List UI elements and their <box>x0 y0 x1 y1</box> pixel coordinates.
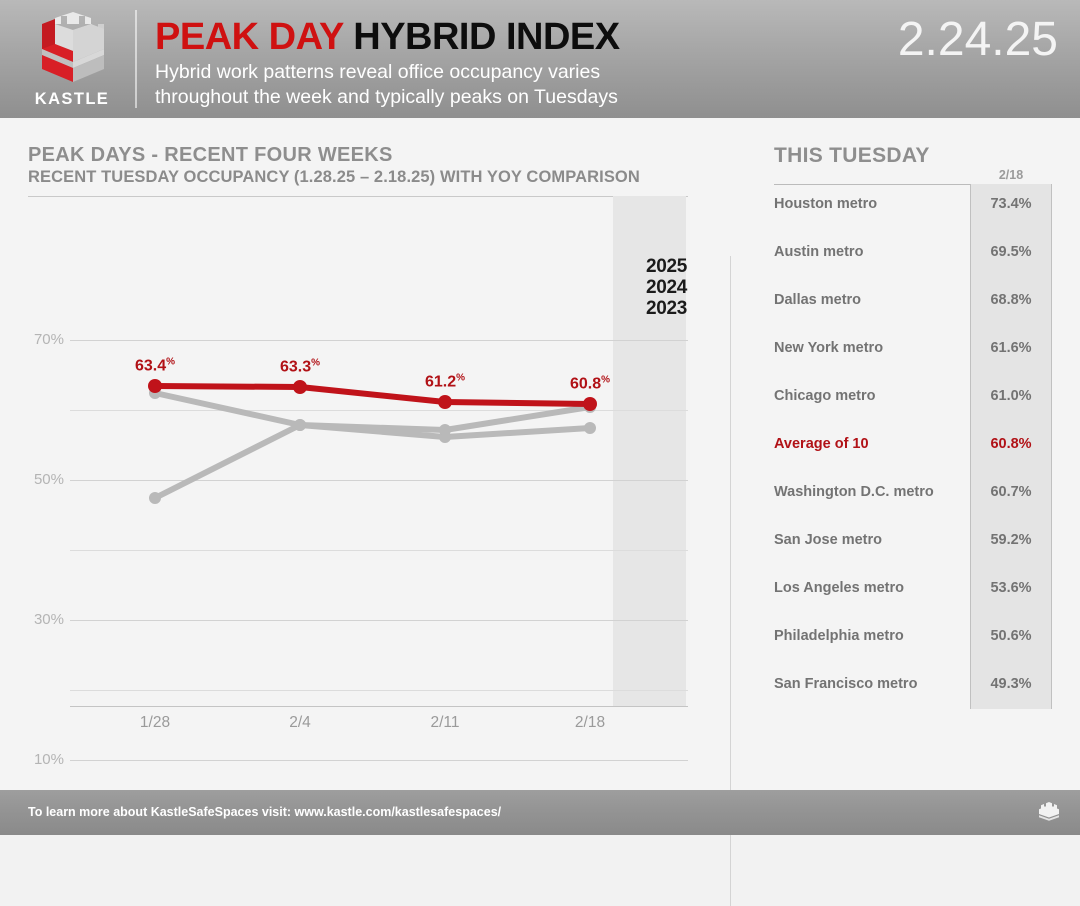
point-label-2025-1: 63.4% <box>135 357 175 376</box>
table-row-name: Dallas metro <box>774 292 861 308</box>
line-chart-plot-area: 70% 50% 30% 10% <box>28 196 688 731</box>
page-title: PEAK DAY HYBRID INDEX <box>155 14 795 60</box>
header-subtitle-line-2: throughout the week and typically peaks … <box>155 85 795 110</box>
page-header: KASTLE PEAK DAY HYBRID INDEX Hybrid work… <box>0 0 1080 118</box>
data-point-2024-2 <box>294 419 306 431</box>
table-row-value: 49.3% <box>970 676 1052 692</box>
legend-item-2023: 2023 <box>646 298 687 319</box>
table-row-value: 60.8% <box>970 436 1052 452</box>
table-row-name: Los Angeles metro <box>774 580 904 596</box>
table-row-average[interactable]: Average of 10 60.8% <box>774 424 1052 472</box>
data-point-2023-1 <box>149 492 161 504</box>
chart-title: PEAK DAYS - RECENT FOUR WEEKS <box>28 144 393 167</box>
x-axis-line <box>70 706 688 707</box>
table-row-value: 69.5% <box>970 244 1052 260</box>
chart-legend: 2025 2024 2023 <box>646 256 687 319</box>
header-subtitle-line-1: Hybrid work patterns reveal office occup… <box>155 60 795 85</box>
point-label-2025-2: 63.3% <box>280 358 320 377</box>
table-row-value: 68.8% <box>970 292 1052 308</box>
table-row[interactable]: Dallas metro 68.8% <box>774 280 1052 328</box>
data-point-2025-3 <box>438 395 452 409</box>
kastle-castle-icon <box>1036 800 1062 824</box>
y-axis-label-10: 10% <box>28 751 64 768</box>
report-date: 2.24.25 <box>898 12 1058 67</box>
this-tuesday-panel: THIS TUESDAY 2/18 Houston metro 73.4% Au… <box>730 118 1080 790</box>
table-row[interactable]: Chicago metro 61.0% <box>774 376 1052 424</box>
point-label-2025-4: 60.8% <box>570 375 610 394</box>
page-title-rest: HYBRID INDEX <box>353 16 619 58</box>
table-row[interactable]: Washington D.C. metro 60.7% <box>774 472 1052 520</box>
table-row[interactable]: Houston metro 73.4% <box>774 184 1052 232</box>
table-row-name: San Jose metro <box>774 532 882 548</box>
data-point-2023-4 <box>584 422 596 434</box>
header-divider <box>135 10 137 108</box>
table-row-value: 59.2% <box>970 532 1052 548</box>
data-point-2025-2 <box>293 380 307 394</box>
table-row-value: 73.4% <box>970 196 1052 212</box>
table-row-name: San Francisco metro <box>774 676 917 692</box>
legend-item-2025: 2025 <box>646 256 687 277</box>
kastle-wordmark: KASTLE <box>16 90 128 109</box>
data-point-2025-4 <box>583 397 597 411</box>
table-row[interactable]: Austin metro 69.5% <box>774 232 1052 280</box>
table-row[interactable]: San Francisco metro 49.3% <box>774 664 1052 712</box>
data-point-2025-1 <box>148 379 162 393</box>
data-point-2024-3 <box>439 424 451 436</box>
x-axis-label-2: 2/4 <box>260 714 340 732</box>
x-axis-label-1: 1/28 <box>115 714 195 732</box>
footer-link-text[interactable]: To learn more about KastleSafeSpaces vis… <box>28 805 501 819</box>
table-row-name: Austin metro <box>774 244 863 260</box>
table-row[interactable]: New York metro 61.6% <box>774 328 1052 376</box>
series-line-2023 <box>155 425 590 498</box>
chart-series-layer <box>28 196 688 731</box>
table-row-name: Chicago metro <box>774 388 876 404</box>
table-row-name: Average of 10 <box>774 436 869 452</box>
series-line-2025 <box>155 386 590 404</box>
main-content: PEAK DAYS - RECENT FOUR WEEKS RECENT TUE… <box>0 118 1080 790</box>
table-row-value: 53.6% <box>970 580 1052 596</box>
point-label-2025-3: 61.2% <box>425 373 465 392</box>
x-axis-label-4: 2/18 <box>550 714 630 732</box>
table-row-name: Philadelphia metro <box>774 628 904 644</box>
series-line-2024 <box>155 393 590 430</box>
table-row-value: 50.6% <box>970 628 1052 644</box>
table-row[interactable]: Los Angeles metro 53.6% <box>774 568 1052 616</box>
table-column-header-date: 2/18 <box>970 168 1052 182</box>
table-row-value: 60.7% <box>970 484 1052 500</box>
page-title-accent: PEAK DAY <box>155 16 353 58</box>
table-row-value: 61.6% <box>970 340 1052 356</box>
x-axis-label-3: 2/11 <box>405 714 485 732</box>
legend-item-2024: 2024 <box>646 277 687 298</box>
table-row-name: Washington D.C. metro <box>774 484 934 500</box>
table-row-value: 61.0% <box>970 388 1052 404</box>
chart-subtitle: RECENT TUESDAY OCCUPANCY (1.28.25 – 2.18… <box>28 168 640 187</box>
table-row[interactable]: San Jose metro 59.2% <box>774 520 1052 568</box>
table-row-name: New York metro <box>774 340 883 356</box>
page-footer: To learn more about KastleSafeSpaces vis… <box>0 790 1080 835</box>
kastle-logo: KASTLE <box>16 8 128 110</box>
chart-panel: PEAK DAYS - RECENT FOUR WEEKS RECENT TUE… <box>0 118 730 790</box>
header-text-block: PEAK DAY HYBRID INDEX Hybrid work patter… <box>155 14 795 110</box>
kastle-castle-logo-icon <box>34 10 112 88</box>
gridline-10 <box>70 760 688 761</box>
table-row-name: Houston metro <box>774 196 877 212</box>
table-row[interactable]: Philadelphia metro 50.6% <box>774 616 1052 664</box>
table-title: THIS TUESDAY <box>774 144 930 168</box>
